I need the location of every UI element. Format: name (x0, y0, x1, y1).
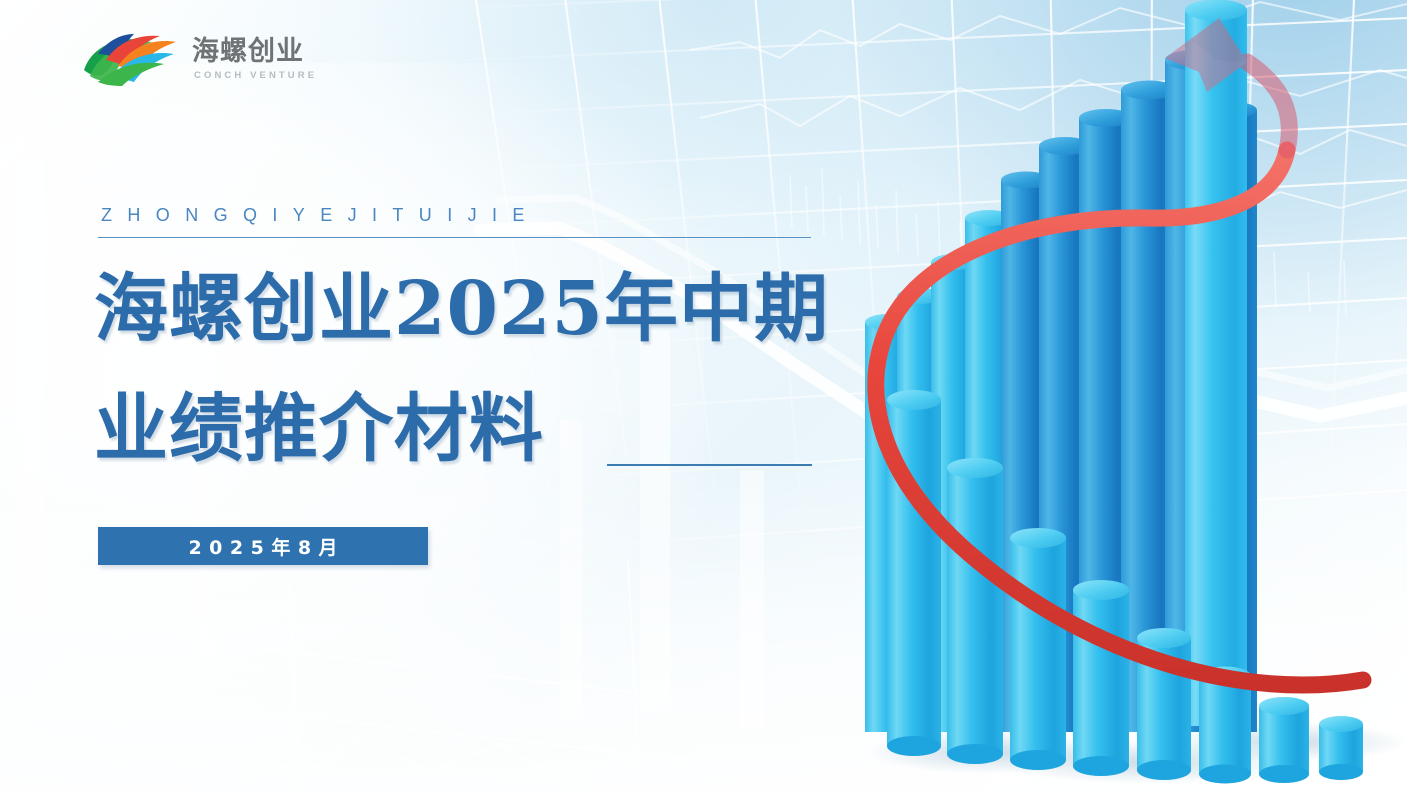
cover-content: 海螺创业 CONCH VENTURE ZHONGQIYEJITUIJIE 海螺创… (98, 0, 858, 791)
divider-mid (607, 464, 812, 466)
page-title-line-1: 海螺创业2025年中期 (94, 272, 829, 346)
date-badge-label: 2025年8月 (181, 533, 345, 560)
conch-venture-swoosh-logo-icon (78, 30, 182, 88)
pinyin-subtitle: ZHONGQIYEJITUIJIE (101, 205, 540, 226)
divider-top (98, 237, 811, 238)
brand-name-en: CONCH VENTURE (194, 70, 317, 81)
date-badge: 2025年8月 (98, 527, 428, 565)
brand-logo[interactable]: 海螺创业 CONCH VENTURE (78, 30, 317, 88)
brand-name-cn: 海螺创业 (192, 37, 317, 66)
cylinder-bar-chart-icon (847, 0, 1407, 791)
presentation-cover-slide: 海螺创业 CONCH VENTURE ZHONGQIYEJITUIJIE 海螺创… (0, 0, 1407, 791)
bar-chart-illustration (847, 0, 1407, 791)
page-title-line-2: 业绩推介材料 (94, 392, 544, 466)
